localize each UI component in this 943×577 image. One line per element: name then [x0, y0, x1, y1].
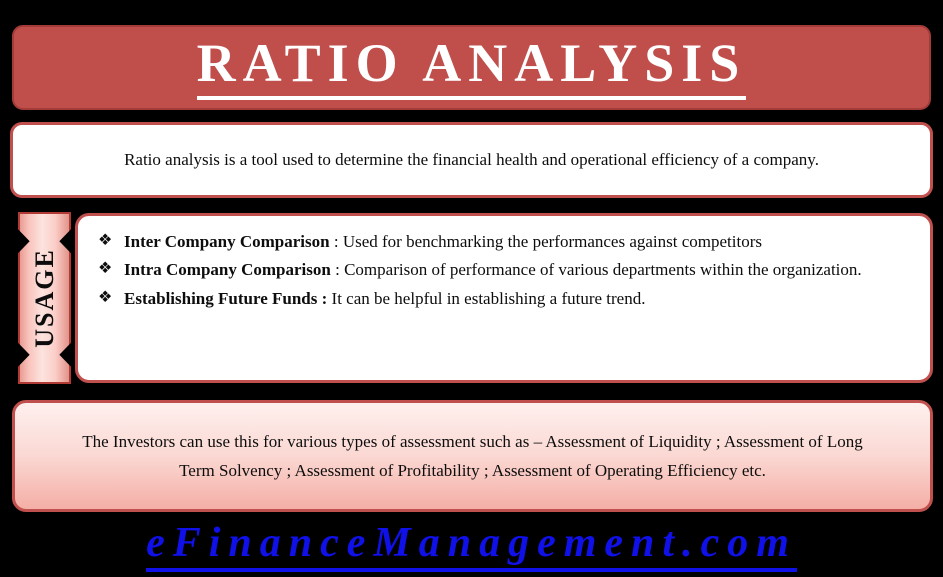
list-item: ❖ Inter Company Comparison : Used for be…: [98, 229, 908, 255]
list-item-body: Establishing Future Funds : It can be he…: [124, 286, 908, 312]
usage-ribbon: USAGE: [18, 212, 71, 384]
list-item-term: Establishing Future Funds :: [124, 289, 327, 308]
definition-box: Ratio analysis is a tool used to determi…: [10, 122, 933, 198]
list-item: ❖ Intra Company Comparison : Comparison …: [98, 257, 908, 283]
page-title: RATIO ANALYSIS: [197, 36, 747, 100]
list-item-description: It can be helpful in establishing a futu…: [327, 289, 645, 308]
list-item-term: Inter Company Comparison: [124, 232, 330, 251]
footer-branding: eFinanceManagement.com: [0, 516, 943, 577]
list-item-body: Intra Company Comparison : Comparison of…: [124, 257, 908, 283]
list-item-description: : Comparison of performance of various d…: [331, 260, 862, 279]
diamond-bullet-icon: ❖: [98, 229, 124, 254]
investors-text: The Investors can use this for various t…: [67, 427, 878, 485]
diamond-bullet-icon: ❖: [98, 286, 124, 311]
list-item-term: Intra Company Comparison: [124, 260, 331, 279]
infographic-page: RATIO ANALYSIS Ratio analysis is a tool …: [0, 0, 943, 577]
usage-bullet-list: ❖ Inter Company Comparison : Used for be…: [98, 229, 908, 312]
list-item-body: Inter Company Comparison : Used for benc…: [124, 229, 908, 255]
list-item-description: : Used for benchmarking the performances…: [330, 232, 762, 251]
diamond-bullet-icon: ❖: [98, 257, 124, 282]
site-name: eFinanceManagement.com: [146, 521, 797, 571]
list-item: ❖ Establishing Future Funds : It can be …: [98, 286, 908, 312]
usage-content-box: ❖ Inter Company Comparison : Used for be…: [75, 213, 933, 383]
investors-box: The Investors can use this for various t…: [12, 400, 933, 512]
definition-text: Ratio analysis is a tool used to determi…: [124, 146, 819, 174]
title-banner: RATIO ANALYSIS: [12, 25, 931, 110]
usage-ribbon-label: USAGE: [30, 248, 60, 348]
